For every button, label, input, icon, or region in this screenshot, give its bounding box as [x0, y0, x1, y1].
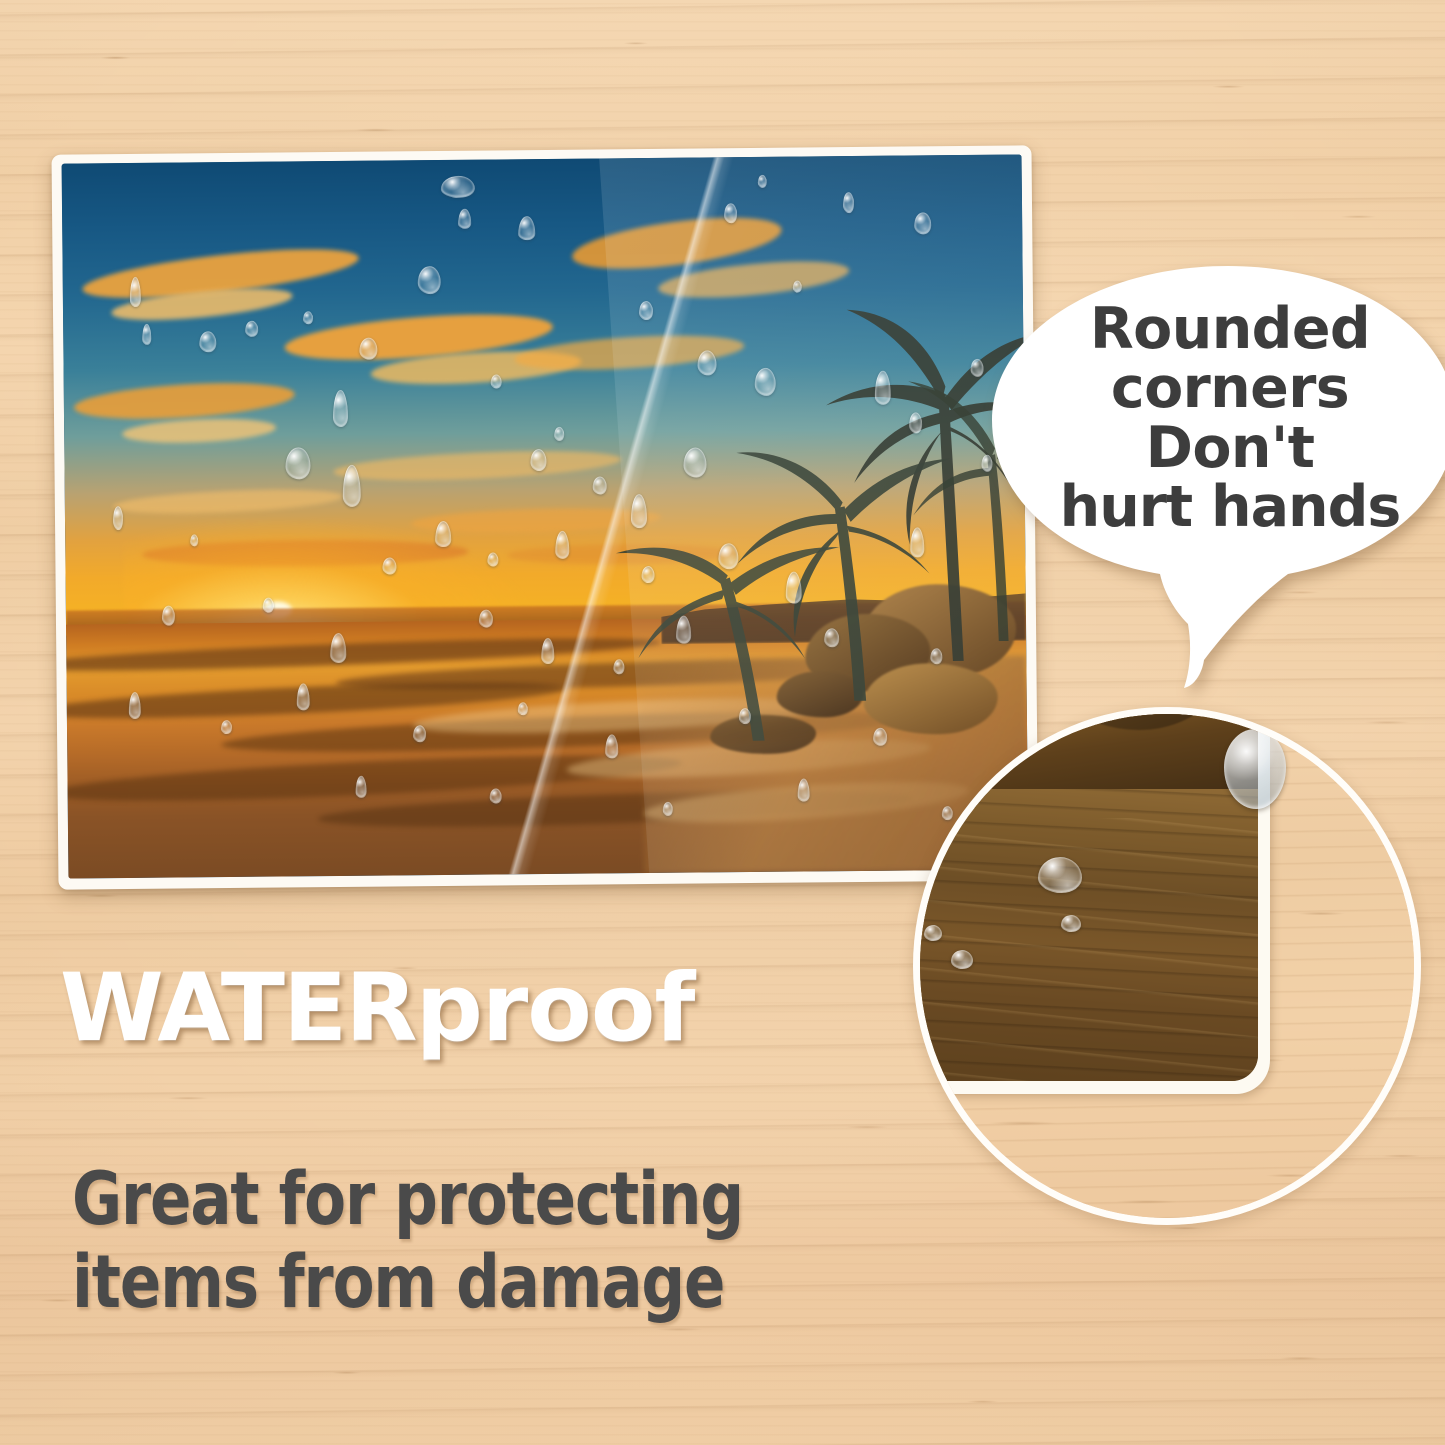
callout-line-1: Rounded: [1040, 300, 1420, 359]
subheadline-line-1: Great for protecting: [72, 1158, 743, 1241]
subheadline-line-2: items from damage: [72, 1241, 743, 1324]
closeup-photo-card: [913, 707, 1270, 1094]
callout-line-4: hurt hands: [1040, 478, 1420, 537]
page-title: WATERproof: [60, 962, 694, 1056]
rounded-corners-callout: Rounded corners Don't hurt hands: [988, 262, 1445, 692]
palm-trees-group: [62, 154, 1029, 878]
headline-upper: WATER: [60, 954, 416, 1063]
photo-card: [51, 145, 1038, 889]
callout-line-3: Don't: [1040, 419, 1420, 478]
closeup-droplet: [1038, 857, 1082, 893]
palm-tree: [736, 450, 952, 702]
closeup-droplet: [924, 925, 942, 941]
closeup-photo-image: [913, 707, 1258, 1081]
closeup-edge-droplet: [1224, 729, 1286, 809]
callout-line-2: corners: [1040, 359, 1420, 418]
subheadline: Great for protecting items from damage: [72, 1158, 743, 1324]
closeup-droplet: [951, 950, 973, 969]
closeup-droplet: [1061, 915, 1081, 932]
closeup-droplet: [988, 745, 1003, 758]
rounded-corner-closeup: [913, 707, 1421, 1225]
photo-image: [62, 154, 1029, 878]
headline-lower: proof: [416, 954, 695, 1063]
poster-canvas: Rounded corners Don't hurt hands: [0, 0, 1445, 1445]
sunset-beach-photo: [51, 145, 1038, 889]
callout-text: Rounded corners Don't hurt hands: [1040, 300, 1420, 537]
